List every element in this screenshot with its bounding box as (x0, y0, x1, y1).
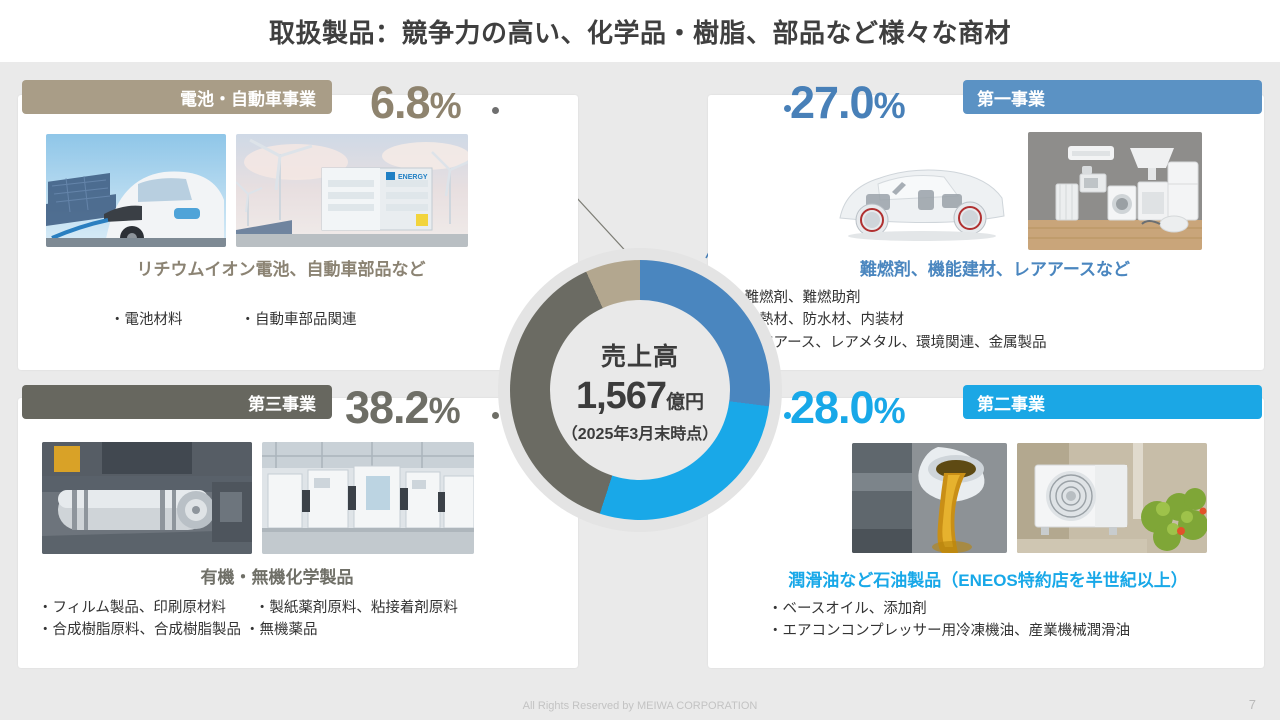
bullets-second-business: ・ベースオイル、添加剤 ・エアコンコンプレッサー用冷凍機油、産業機械潤滑油 (768, 598, 1130, 643)
ribbon-second-business: 第二事業 (963, 385, 1262, 419)
ev-charging-solar-photo (46, 134, 226, 247)
svg-text:ENERGY: ENERGY (398, 174, 428, 181)
percent-value-third-business: 38.2 (345, 382, 429, 433)
percent-symbol-second-business: % (874, 390, 905, 431)
donut-value: 1,567億円 (576, 377, 704, 415)
donut-date-note: （2025年3月末時点） (562, 420, 719, 444)
image-row-second-business (852, 443, 1207, 553)
ribbon-first-business: 第一事業 (963, 80, 1262, 114)
ribbon-label-battery-auto: 電池・自動車事業 (180, 85, 316, 110)
ac-outdoor-unit-photo (1017, 443, 1207, 553)
image-row-battery-auto: ENERGY (46, 134, 468, 247)
bullets-battery-auto: ・電池材料 ・自動車部品関連 (110, 309, 357, 331)
bullet-row: ・エアコンコンプレッサー用冷凍機油、産業機械潤滑油 (768, 620, 1130, 642)
car-cutaway-photo (822, 132, 1018, 250)
sales-donut-chart: 売上高 1,567億円 （2025年3月末時点） (488, 238, 792, 542)
bullet-row: ・ベースオイル、添加剤 (768, 598, 1130, 620)
factory-production-line-photo (262, 442, 474, 554)
percent-value-battery-auto: 6.8 (370, 77, 430, 128)
donut-value-number: 1,567 (576, 375, 666, 417)
image-row-first-business (822, 132, 1202, 250)
slide-title-bar: 取扱製品：競争力の高い、化学品・樹脂、部品など様々な商材 (0, 0, 1280, 62)
percent-symbol-third-business: % (429, 390, 460, 431)
percent-symbol-first-business: % (874, 85, 905, 126)
caption-first-business: 難燃剤、機能建材、レアアースなど (760, 255, 1230, 280)
ribbon-third-business: 第三事業 (22, 385, 332, 419)
percent-battery-auto: 6.8% (370, 80, 461, 125)
bullet-row: ・フィルム製品、印刷原材料 ・製紙薬剤原料、粘接着剤原料 (38, 597, 458, 619)
leader-dot-first-business (784, 105, 791, 112)
page-title: 取扱製品：競争力の高い、化学品・樹脂、部品など様々な商材 (269, 13, 1011, 50)
donut-label: 売上高 (601, 337, 679, 373)
film-roller-machine-photo (42, 442, 252, 554)
ribbon-label-first-business: 第一事業 (977, 85, 1045, 110)
leader-dot-battery-auto (492, 107, 499, 114)
engine-oil-pouring-photo (852, 443, 1007, 553)
donut-value-unit: 億円 (666, 392, 704, 413)
donut-center: 売上高 1,567億円 （2025年3月末時点） (550, 300, 730, 480)
bullet-row: ・電池材料 ・自動車部品関連 (110, 309, 357, 331)
caption-second-business: 潤滑油など石油製品（ENEOS特約店を半世紀以上） (718, 566, 1258, 591)
percent-value-second-business: 28.0 (790, 382, 874, 433)
battery-storage-wind-photo: ENERGY (236, 134, 468, 247)
percent-second-business: 28.0% (790, 385, 905, 430)
bullets-third-business: ・フィルム製品、印刷原材料 ・製紙薬剤原料、粘接着剤原料 ・合成樹脂原料、合成樹… (38, 597, 458, 642)
bullet-row: ・合成樹脂原料、合成樹脂製品 ・無機薬品 (38, 619, 458, 641)
ribbon-label-second-business: 第二事業 (977, 390, 1045, 415)
image-row-third-business (42, 442, 474, 554)
percent-third-business: 38.2% (345, 385, 460, 430)
percent-first-business: 27.0% (790, 80, 905, 125)
ribbon-battery-auto: 電池・自動車事業 (22, 80, 332, 114)
caption-battery-auto: リチウムイオン電池、自動車部品など (46, 255, 516, 280)
ribbon-label-third-business: 第三事業 (248, 390, 316, 415)
percent-value-first-business: 27.0 (790, 77, 874, 128)
percent-symbol-battery-auto: % (430, 85, 461, 126)
page-number: 7 (1249, 697, 1256, 712)
footer-copyright: All Rights Reserved by MEIWA CORPORATION (0, 700, 1280, 712)
caption-third-business: 有機・無機化学製品 (42, 563, 512, 588)
home-appliances-photo (1028, 132, 1202, 250)
